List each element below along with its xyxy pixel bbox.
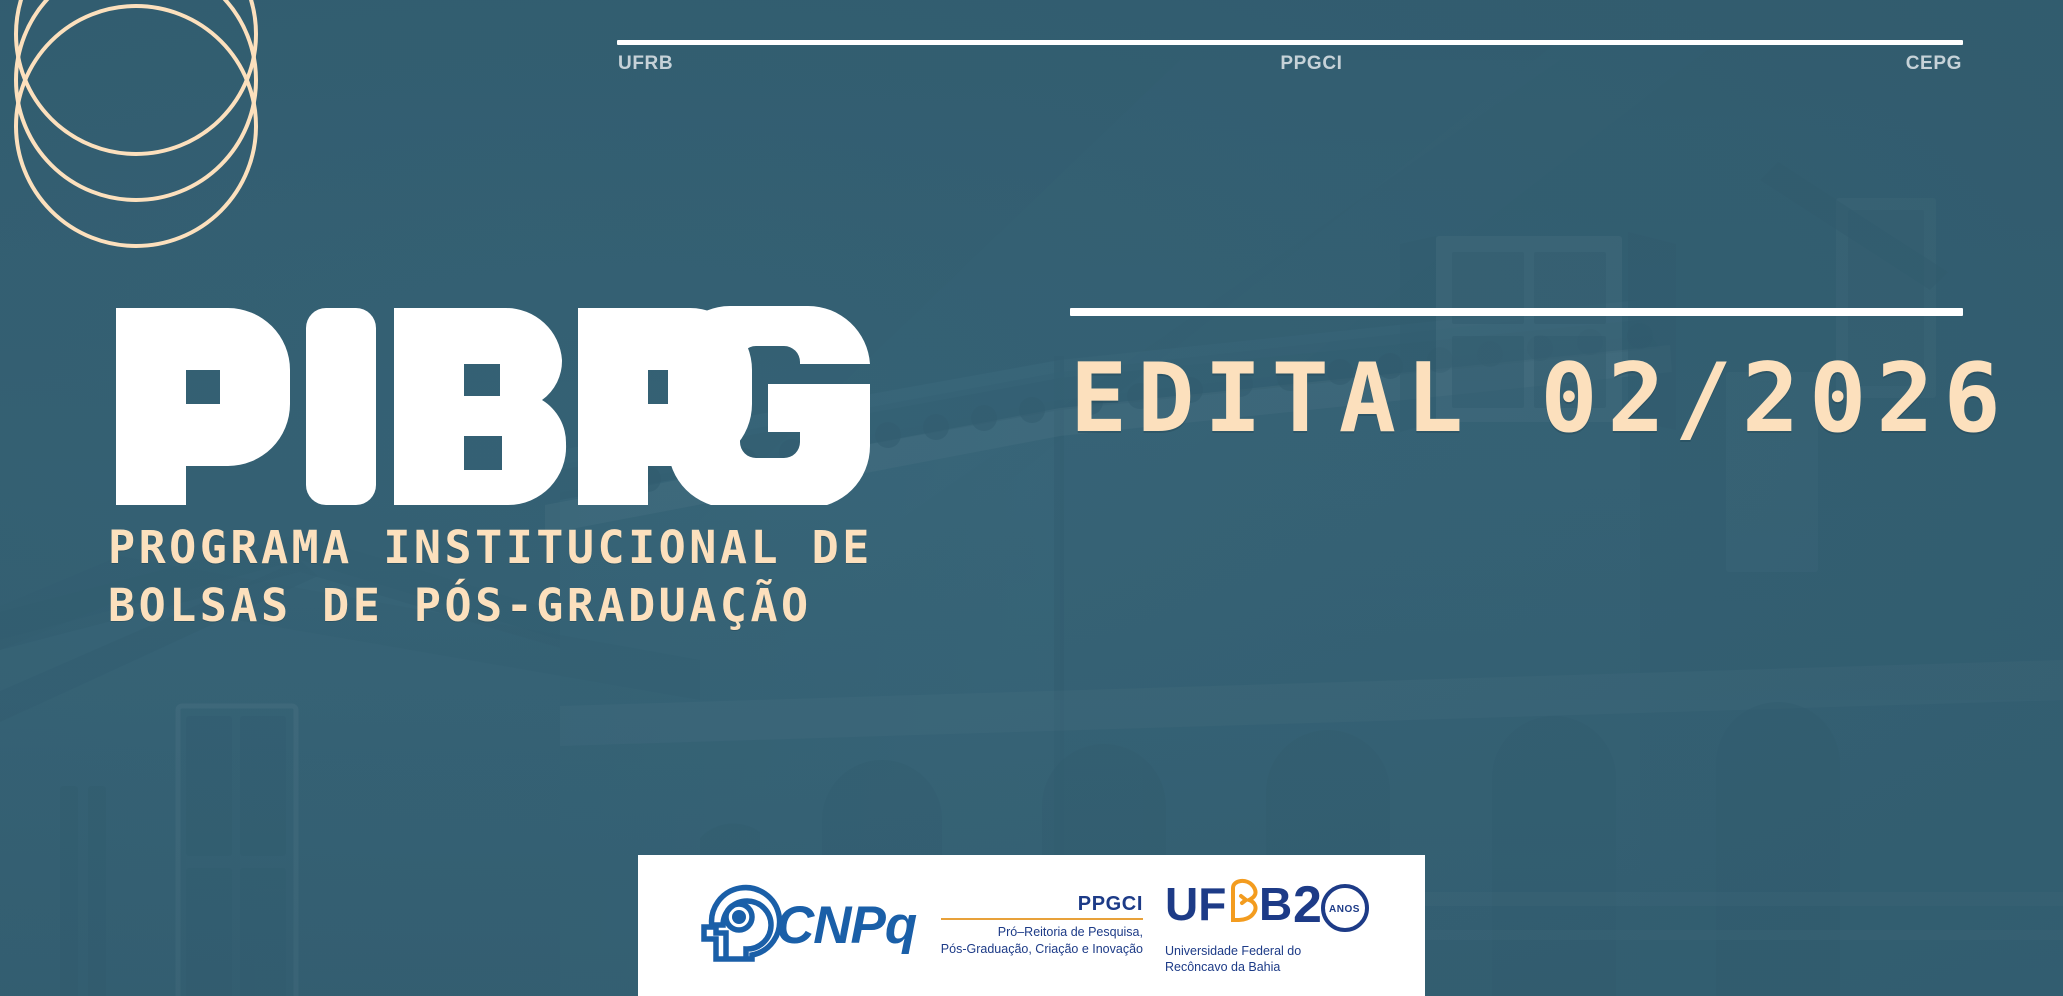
svg-text:B: B: [1259, 878, 1292, 930]
ufrb-full-name: Universidade Federal do Recôncavo da Bah…: [1165, 943, 1371, 976]
ufrb-20-anos-mark: UF B 2 ANOS: [1165, 876, 1371, 936]
edital-divider-rule: [1070, 308, 1963, 316]
ufrb-logo: UF B 2 ANOS Universidade Federal do Recô…: [1165, 876, 1371, 976]
ppgci-full-name: Pró–Reitoria de Pesquisa, Pós-Graduação,…: [941, 924, 1143, 957]
svg-text:2: 2: [1293, 876, 1322, 934]
sponsor-logo-bar: CNPq PPGCI Pró–Reitoria de Pesquisa, Pós…: [638, 855, 1425, 996]
header-link-ufrb[interactable]: UFRB: [618, 53, 673, 75]
cnpq-head-icon: [704, 888, 780, 959]
pibpg-wordmark: [108, 300, 878, 505]
hero-left-block: PROGRAMA INSTITUCIONAL DE BOLSAS DE PÓS-…: [108, 300, 878, 634]
header-nav: UFRB PPGCI CEPG: [617, 40, 1963, 75]
svg-text:UF: UF: [1165, 878, 1226, 930]
ppgci-logo: PPGCI Pró–Reitoria de Pesquisa, Pós-Grad…: [941, 894, 1143, 957]
edital-title: EDITAL 02/2026: [1070, 350, 1963, 450]
edital-banner: UFRB PPGCI CEPG PROGRAMA INSTITUCIONAL D…: [0, 0, 2063, 996]
header-links: UFRB PPGCI CEPG: [617, 53, 1963, 75]
header-link-ppgci[interactable]: PPGCI: [1280, 53, 1342, 75]
ppgci-accent-rule: [941, 918, 1143, 920]
ppgci-acronym: PPGCI: [941, 894, 1143, 914]
svg-text:CNPq: CNPq: [776, 896, 917, 955]
header-link-cepg[interactable]: CEPG: [1906, 53, 1962, 75]
hero-right-block: EDITAL 02/2026: [1070, 308, 1963, 450]
cnpq-logo: CNPq: [692, 881, 932, 970]
svg-text:ANOS: ANOS: [1329, 904, 1360, 915]
header-divider-rule: [617, 40, 1963, 45]
hero-subtitle: PROGRAMA INSTITUCIONAL DE BOLSAS DE PÓS-…: [108, 519, 878, 634]
